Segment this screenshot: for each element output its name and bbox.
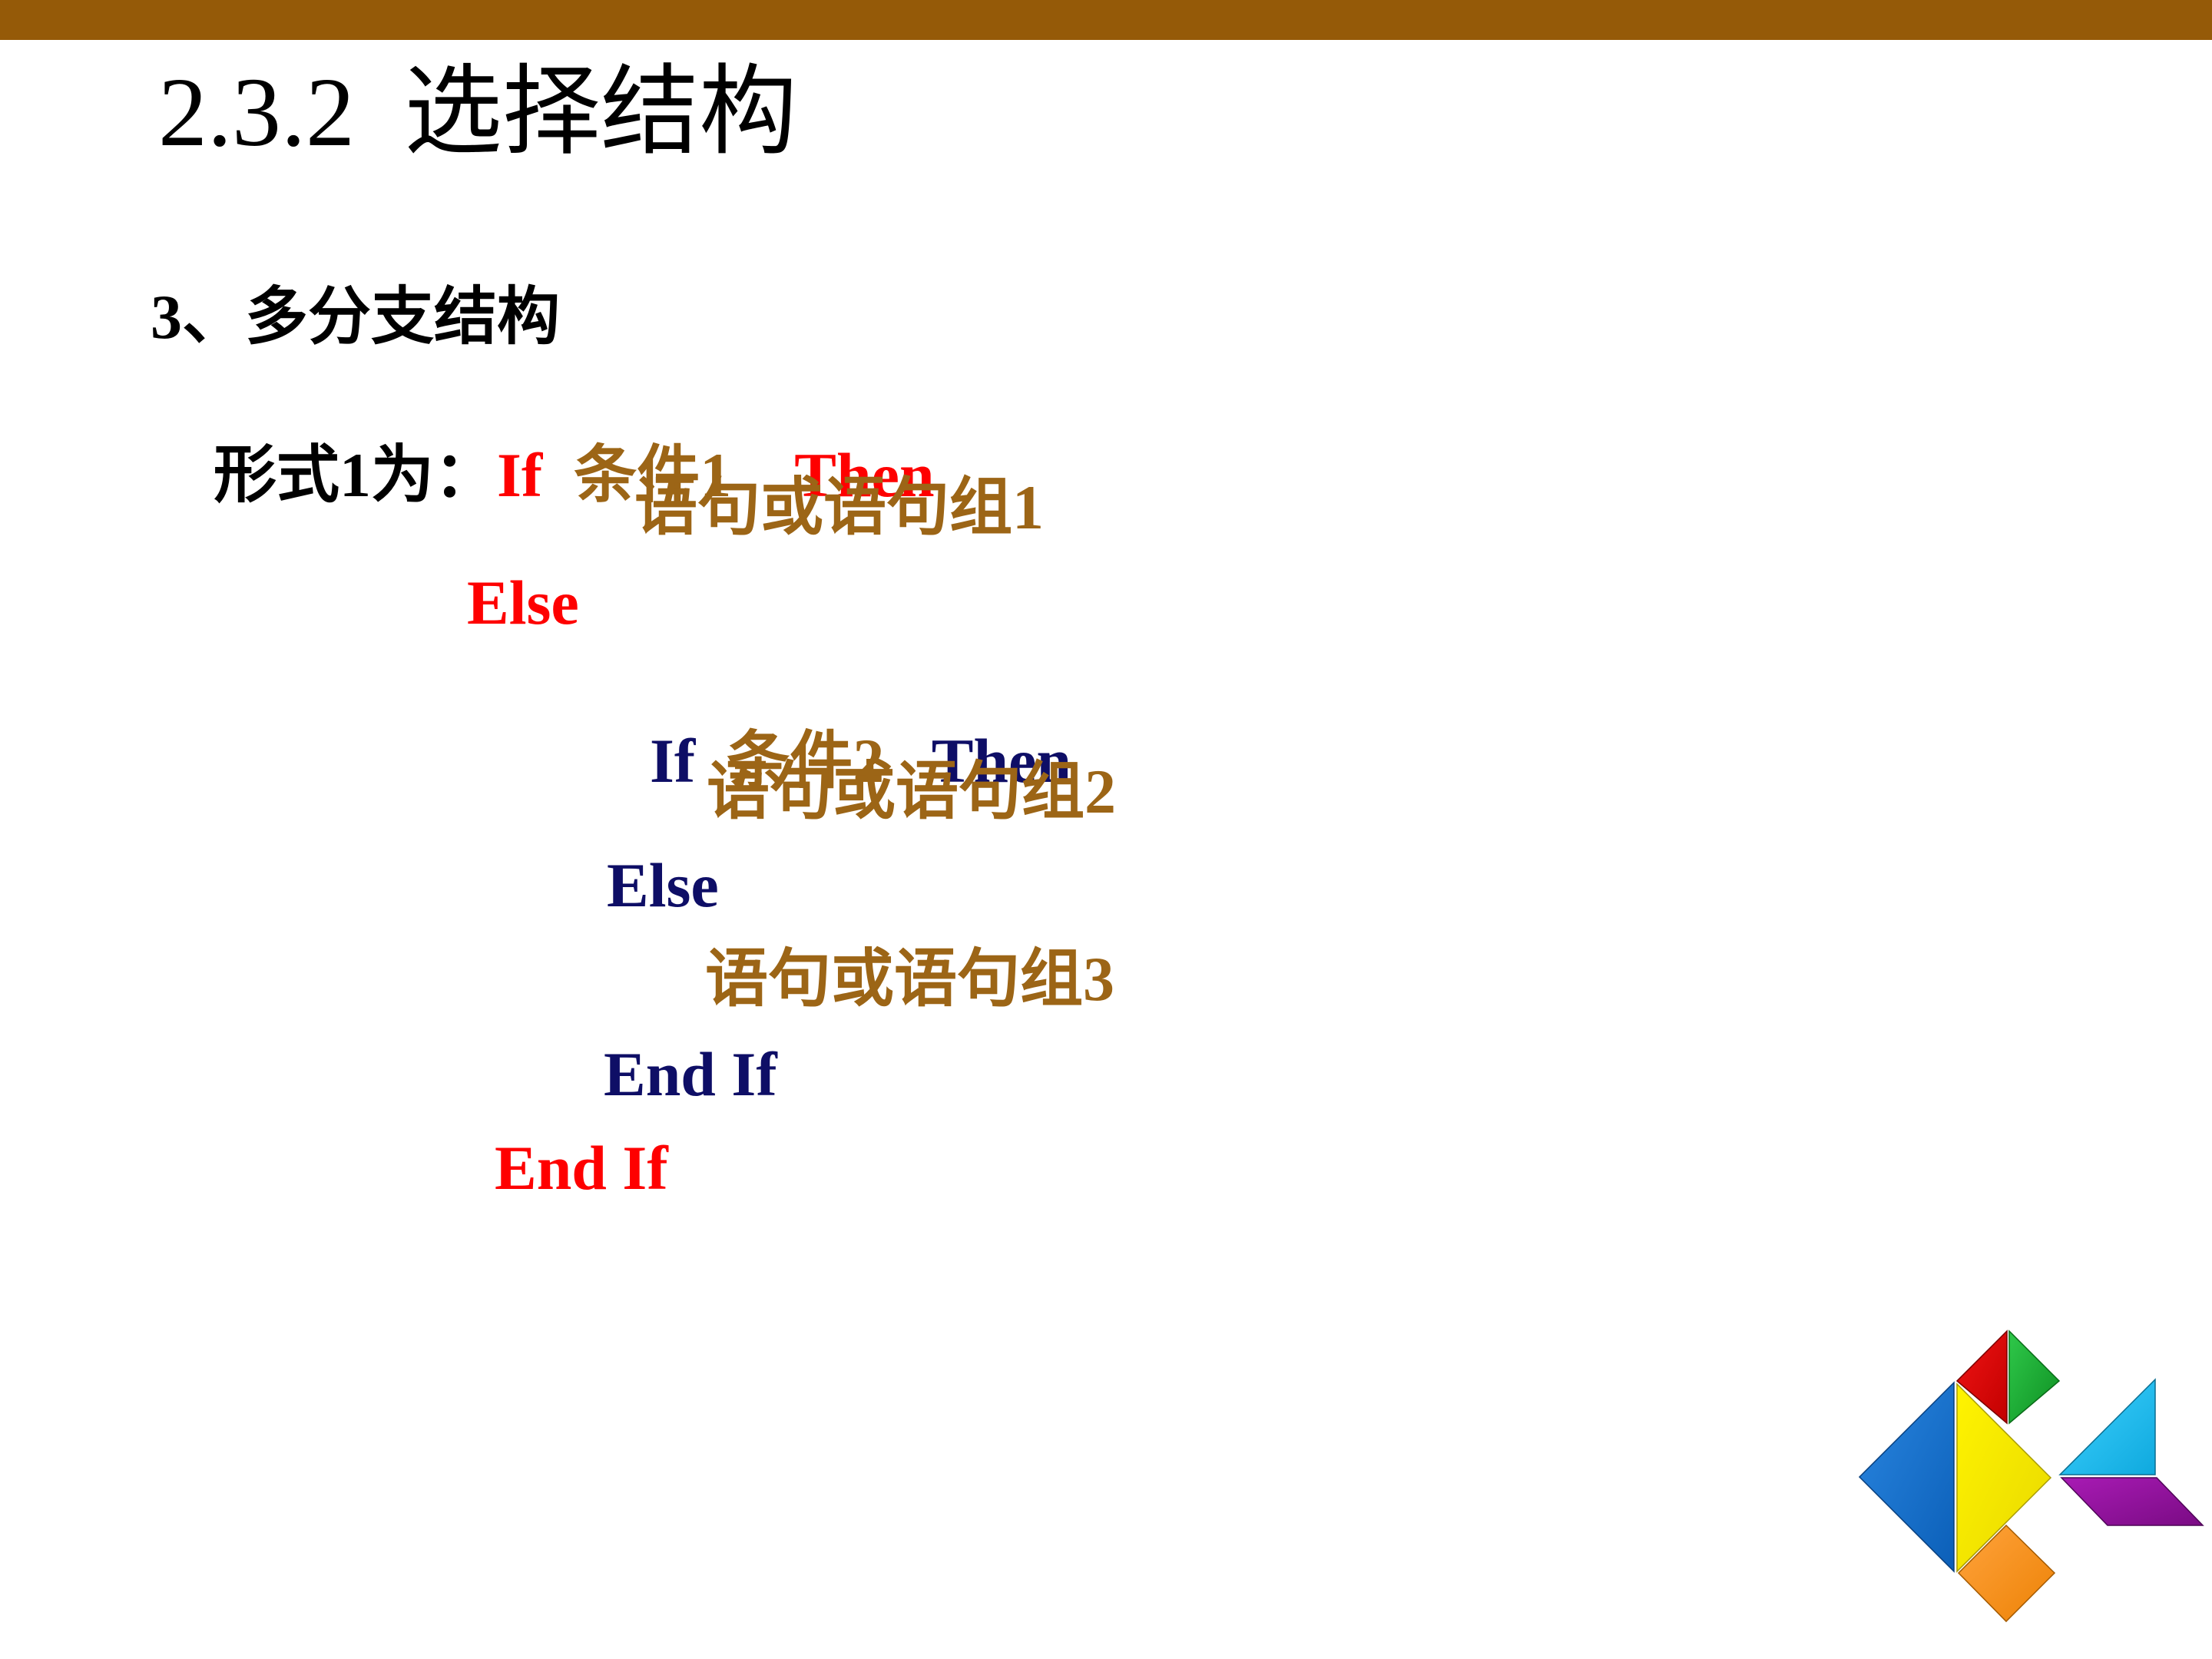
body-heading: 3、多分支结构 [151,286,560,349]
spacer-1 [542,440,574,510]
page-title: 2.3.2 选择结构 [158,48,797,177]
keyword-if-2: If [650,726,695,796]
code-line-7: 语句或语句组3 [705,948,1114,1011]
code-line-6: Else [607,854,719,917]
code-line-8: End If [604,1043,777,1106]
green-triangle-piece [2009,1331,2059,1423]
form-label: 形式1为： [214,440,497,510]
tangram-decoration [1842,1289,2212,1650]
cyan-triangle-piece [2060,1379,2155,1475]
header-bar [0,0,2212,40]
purple-parallelogram-piece [2061,1478,2203,1525]
code-line-9: End If [495,1137,668,1200]
keyword-if-1: If [497,440,542,510]
code-line-2: 语句或语句组1 [634,476,1044,539]
code-line-5: 语句或语句组2 [707,760,1116,823]
code-line-3: Else [467,571,579,634]
blue-triangle-piece [1859,1382,1954,1571]
